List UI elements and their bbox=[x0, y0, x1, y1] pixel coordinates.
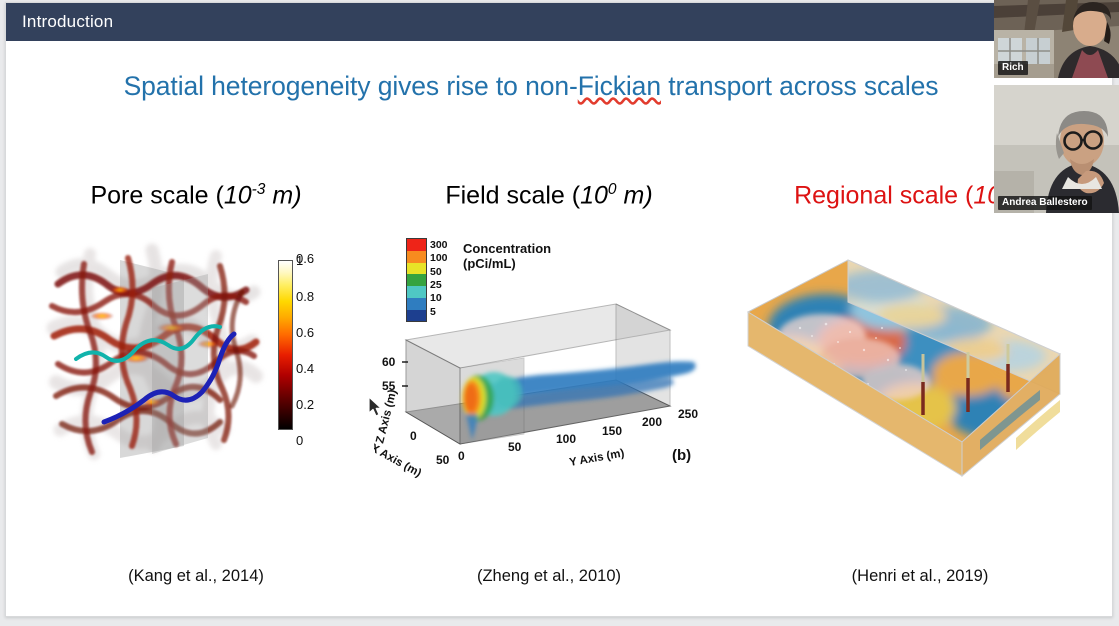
heading-pore-scale: Pore scale (10-3 m) bbox=[26, 181, 366, 210]
heading-regional-scale-text: Regional scale ( bbox=[794, 181, 973, 209]
figure-regional-scale bbox=[730, 232, 1110, 482]
x-tick-50: 50 bbox=[436, 453, 450, 467]
y-tick-250: 250 bbox=[678, 407, 698, 421]
heading-field-scale-unit: m) bbox=[617, 181, 653, 209]
colorbar-tick-3b: 0.6 bbox=[296, 326, 314, 339]
slide-title: Spatial heterogeneity gives rise to non-… bbox=[6, 71, 1056, 102]
video-name-label-rich: Rich bbox=[998, 61, 1028, 76]
y-axis-label-text: Y Axis (m) bbox=[568, 448, 625, 470]
pore-network-image bbox=[32, 232, 280, 477]
heading-pore-scale-unit: m) bbox=[265, 181, 301, 209]
colorbar-tick-4: 0.4 bbox=[296, 362, 314, 375]
slide-title-part-2: transport across scales bbox=[661, 71, 938, 101]
column-field-scale: Field scale (100 m) bbox=[374, 181, 724, 482]
legend-value-300: 300 bbox=[430, 240, 448, 251]
y-tick-100: 100 bbox=[556, 432, 576, 446]
slide-frame: Introduction Spatial heterogeneity gives… bbox=[5, 2, 1113, 617]
figure-field-scale: 300 100 50 25 10 5 Concentration (pCi/mL… bbox=[374, 232, 724, 482]
legend-value-50: 50 bbox=[430, 267, 442, 278]
scale-columns: Pore scale (10-3 m) bbox=[6, 181, 1113, 601]
figure-pore-scale: 1 0.8 0.6 0.6 0.4 0.2 0 bbox=[26, 232, 366, 482]
heading-field-scale: Field scale (100 m) bbox=[374, 181, 724, 210]
slide-title-part-1: Spatial heterogeneity gives rise to non- bbox=[124, 71, 578, 101]
x-tick-0: 0 bbox=[410, 429, 417, 443]
caption-pore-scale: (Kang et al., 2014) bbox=[26, 567, 366, 586]
column-regional-scale: Regional scale (103 m) bbox=[730, 181, 1110, 482]
pore-scale-colorbar-ticks: 1 0.8 0.6 0.6 0.4 0.2 0 bbox=[296, 252, 342, 438]
video-feed-andrea bbox=[994, 85, 1119, 213]
mouse-cursor bbox=[368, 396, 384, 423]
legend-value-25: 25 bbox=[430, 280, 442, 291]
legend-title-line-1: Concentration bbox=[463, 242, 551, 257]
heading-pore-scale-exponent: -3 bbox=[252, 181, 266, 198]
plume-3d-plot: 60 55 Z Axis (m) 0 50 X Axis ( bbox=[374, 294, 724, 482]
screen: Introduction Spatial heterogeneity gives… bbox=[0, 0, 1119, 626]
heading-field-scale-text: Field scale ( bbox=[445, 181, 580, 209]
legend-value-100: 100 bbox=[430, 253, 448, 264]
y-tick-0: 0 bbox=[458, 449, 465, 463]
colorbar-tick-3: 0.6 bbox=[296, 252, 314, 265]
colorbar-tick-2: 0.8 bbox=[296, 290, 314, 303]
heading-field-scale-exponent: 0 bbox=[608, 181, 617, 198]
section-header-bar: Introduction bbox=[6, 3, 1112, 41]
section-header-title: Introduction bbox=[6, 12, 113, 32]
legend-title-line-2: (pCi/mL) bbox=[463, 257, 551, 272]
panel-label-b: (b) bbox=[672, 447, 691, 464]
video-tile-rich[interactable]: Rich bbox=[994, 0, 1119, 78]
pore-scale-colorbar bbox=[278, 260, 293, 430]
video-tile-andrea[interactable]: Andrea Ballestero bbox=[994, 85, 1119, 213]
y-tick-50: 50 bbox=[508, 440, 522, 454]
aquifer-block-image bbox=[730, 232, 1110, 482]
colorbar-tick-6: 0 bbox=[296, 434, 303, 447]
video-name-label-andrea: Andrea Ballestero bbox=[998, 196, 1092, 211]
heading-pore-scale-text: Pore scale ( bbox=[90, 181, 223, 209]
column-pore-scale: Pore scale (10-3 m) bbox=[26, 181, 366, 482]
heading-pore-scale-base: 10 bbox=[224, 181, 252, 209]
caption-field-scale: (Zheng et al., 2010) bbox=[374, 567, 724, 586]
video-participant-stack: Rich bbox=[994, 0, 1119, 213]
colorbar-tick-5: 0.2 bbox=[296, 398, 314, 411]
x-axis-label-text: X Axis (m) bbox=[374, 442, 423, 480]
legend-title: Concentration (pCi/mL) bbox=[463, 242, 551, 272]
z-tick-60: 60 bbox=[382, 355, 396, 369]
slide-title-misspelled-word: Fickian bbox=[578, 71, 661, 101]
heading-field-scale-base: 10 bbox=[580, 181, 608, 209]
y-tick-150: 150 bbox=[602, 424, 622, 438]
y-tick-200: 200 bbox=[642, 415, 662, 429]
caption-regional-scale: (Henri et al., 2019) bbox=[730, 567, 1110, 586]
